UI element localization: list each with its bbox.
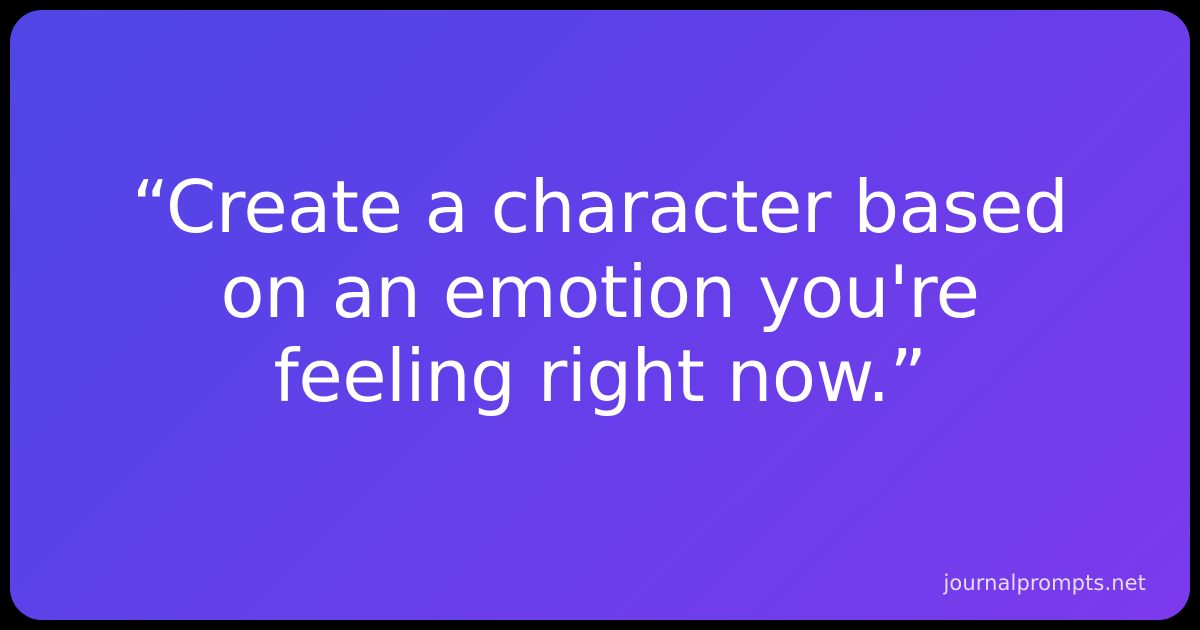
site-credit-label: journalprompts.net: [943, 573, 1146, 594]
quote-block: “Create a character based on an emotion …: [10, 10, 1190, 620]
poster-canvas: “Create a character based on an emotion …: [0, 0, 1200, 630]
quote-card: “Create a character based on an emotion …: [10, 10, 1190, 620]
quote-text: “Create a character based on an emotion …: [120, 165, 1080, 420]
